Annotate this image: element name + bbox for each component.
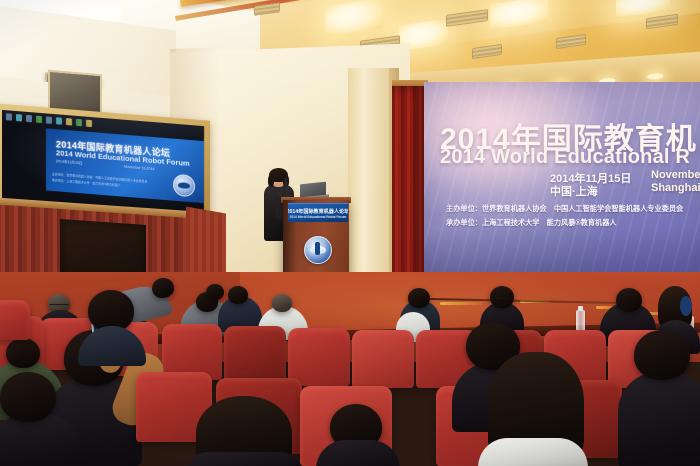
taskbar-icon	[66, 118, 72, 125]
speaker-hair-side	[268, 175, 274, 187]
audience-head	[490, 286, 514, 308]
backdrop-title-english: 2014 World Educational R	[440, 146, 690, 169]
forum-emblem-icon	[173, 174, 195, 198]
stage-curtain	[392, 86, 426, 298]
floor-tape-mark	[440, 302, 482, 305]
taskbar-icon	[86, 119, 92, 126]
presentation-slide: 2014年国际教育机器人论坛 2014 World Educational Ro…	[46, 128, 204, 203]
backdrop-host-line: 承办单位：上海工程技术大学 能力风暴®教育机器人	[446, 218, 617, 228]
podium-banner-chinese: 2014年国际教育机器人论坛	[288, 208, 348, 215]
slide-date-english: November 15,2014	[124, 165, 155, 171]
taskbar-icon	[26, 114, 32, 121]
audience-head	[206, 284, 224, 300]
backdrop-organizer-line: 主办单位：世界教育机器人协会 中国人工智能学会智能机器人专业委员会	[446, 204, 683, 214]
audience-head	[6, 338, 40, 368]
taskbar-icon	[56, 117, 62, 124]
audience-member	[478, 438, 588, 466]
podium-banner-english: 2014 World Educational Robot Forum	[290, 215, 347, 219]
audience-head	[272, 294, 292, 312]
backdrop-city-english: Shanghai	[651, 182, 700, 194]
eyeglasses	[492, 298, 510, 303]
audience-head	[408, 288, 430, 308]
backdrop-date-english: November	[651, 169, 700, 181]
audience-head	[228, 286, 248, 304]
hair-tie	[680, 296, 692, 316]
water-bottle	[576, 310, 585, 332]
podium-banner: 2014年国际教育机器人论坛 2014 World Educational Ro…	[288, 203, 348, 222]
audience-member	[618, 372, 700, 466]
wall-pillar	[348, 68, 392, 296]
theater-seat	[352, 330, 414, 388]
audience-head	[0, 372, 56, 422]
audience-member	[186, 452, 302, 466]
eyeglasses	[49, 304, 69, 309]
university-emblem-icon	[304, 236, 332, 264]
theater-seat	[0, 300, 30, 340]
slide-date-chinese: 2014年11月15日	[56, 159, 83, 166]
audience-head	[616, 288, 642, 312]
theater-seat	[288, 328, 350, 386]
taskbar-icon	[36, 115, 42, 122]
taskbar-icon	[16, 114, 22, 121]
stage-backdrop-banner: 2014年国际教育机 2014 World Educational R 2014…	[424, 82, 700, 298]
taskbar-icon	[46, 116, 52, 123]
audience-head	[634, 330, 690, 380]
taskbar-icon	[76, 118, 82, 125]
conference-hall-photo: 2014年国际教育机器人论坛 2014 World Educational Ro…	[0, 0, 700, 466]
taskbar-icon	[6, 113, 12, 120]
backdrop-city-chinese: 中国·上海	[550, 183, 598, 199]
theater-seat	[224, 326, 286, 384]
